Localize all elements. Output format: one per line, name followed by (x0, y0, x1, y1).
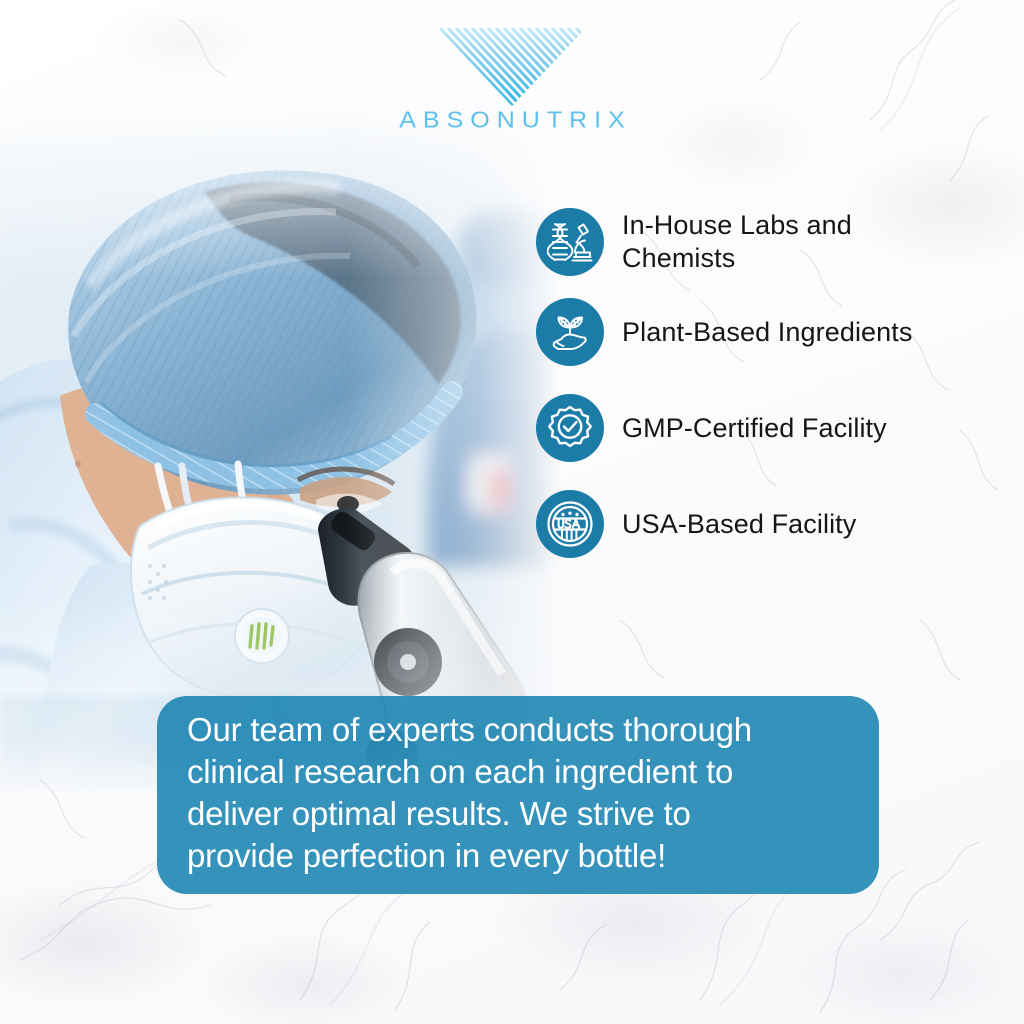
quote-line-1: Our team of experts conducts thorough (187, 709, 752, 751)
feature-item-gmp-certified: GMP-Certified Facility (536, 394, 1006, 462)
feature-label-line1: Plant-Based Ingredients (622, 316, 912, 349)
feature-label: USA-Based Facility (622, 508, 856, 541)
scientist-at-microscope-photo (0, 96, 560, 796)
feature-label: In-House Labs and Chemists (622, 209, 852, 275)
feature-item-plant-based: Plant-Based Ingredients (536, 298, 1006, 366)
striped-triangle-logo-mark-icon (432, 22, 592, 110)
feature-item-in-house-labs: In-House Labs and Chemists (536, 208, 1006, 276)
dna-microscope-icon (536, 208, 604, 276)
feature-label: Plant-Based Ingredients (622, 316, 912, 349)
quote-line-2: clinical research on each ingredient to (187, 751, 752, 793)
feature-list: In-House Labs and Chemists (536, 208, 1006, 586)
feature-label-line2: Chemists (622, 242, 852, 275)
quote-text: Our team of experts conducts thorough cl… (187, 709, 752, 877)
brand-name: ABSONUTRIX (0, 107, 1024, 134)
usa-badge-icon (536, 490, 604, 558)
quote-line-4: provide perfection in every bottle! (187, 835, 752, 877)
feature-label-line1: In-House Labs and (622, 209, 852, 242)
quote-callout-box: Our team of experts conducts thorough cl… (157, 696, 879, 894)
promo-graphic-canvas: ABSONUTRIX (0, 0, 1024, 1024)
hand-holding-plant-icon (536, 298, 604, 366)
feature-label: GMP-Certified Facility (622, 412, 887, 445)
certified-badge-check-icon (536, 394, 604, 462)
quote-line-3: deliver optimal results. We strive to (187, 793, 752, 835)
feature-item-usa-based: USA-Based Facility (536, 490, 1006, 558)
feature-label-line1: GMP-Certified Facility (622, 412, 887, 445)
brand-logo: ABSONUTRIX (0, 22, 1024, 135)
feature-label-line1: USA-Based Facility (622, 508, 856, 541)
